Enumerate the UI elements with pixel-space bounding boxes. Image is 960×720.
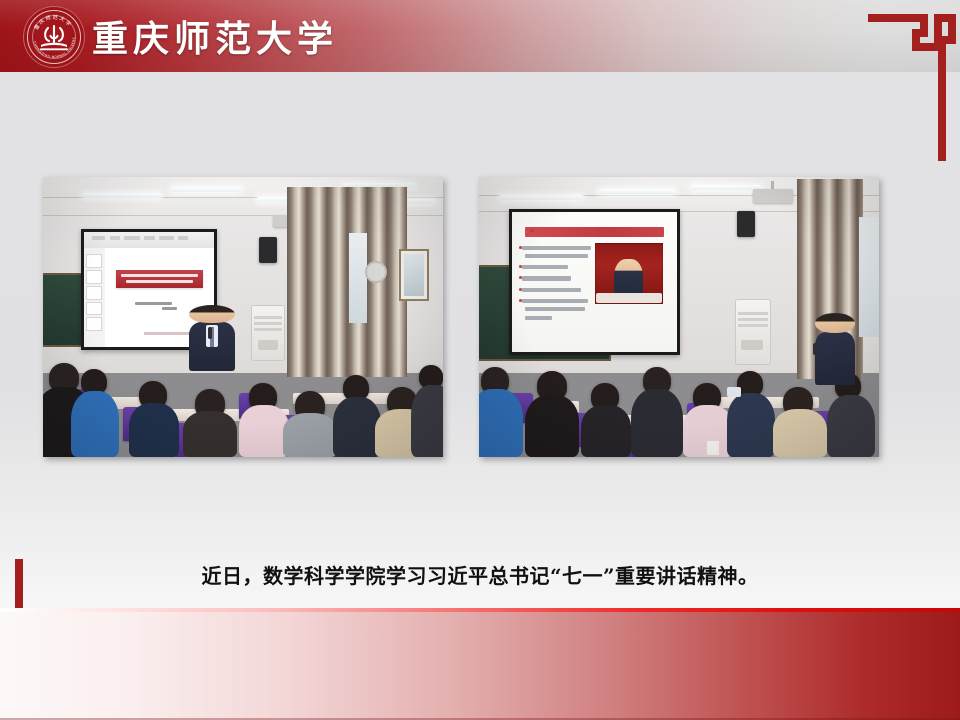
classroom-scene-left [43, 177, 443, 457]
classroom-scene-right [479, 177, 879, 457]
presentation-slide: 重庆师范大学 CHONGQING NORMAL UNIVERSITY 重庆师范大… [0, 0, 960, 720]
chinese-corner-ornament-icon-top-right [850, 4, 960, 169]
svg-text:CHONGQING NORMAL UNIVERSITY: CHONGQING NORMAL UNIVERSITY [23, 6, 76, 59]
footer-band [0, 612, 960, 720]
photo-vignette [479, 177, 879, 457]
photo-vignette [43, 177, 443, 457]
caption-text: 近日，数学科学学院学习习近平总书记“七一”重要讲话精神。 [0, 560, 960, 589]
lecture-hall-photo-left [43, 177, 443, 457]
university-name: 重庆师范大学 [92, 4, 338, 68]
lecture-hall-photo-right [479, 177, 879, 457]
caption-area: 近日，数学科学学院学习习近平总书记“七一”重要讲话精神。 [0, 552, 960, 606]
seal-emblem-icon: 重庆师范大学 CHONGQING NORMAL UNIVERSITY [23, 6, 85, 68]
page-header: 重庆师范大学 CHONGQING NORMAL UNIVERSITY 重庆师范大… [0, 0, 960, 72]
university-seal-icon: 重庆师范大学 CHONGQING NORMAL UNIVERSITY [23, 6, 85, 68]
